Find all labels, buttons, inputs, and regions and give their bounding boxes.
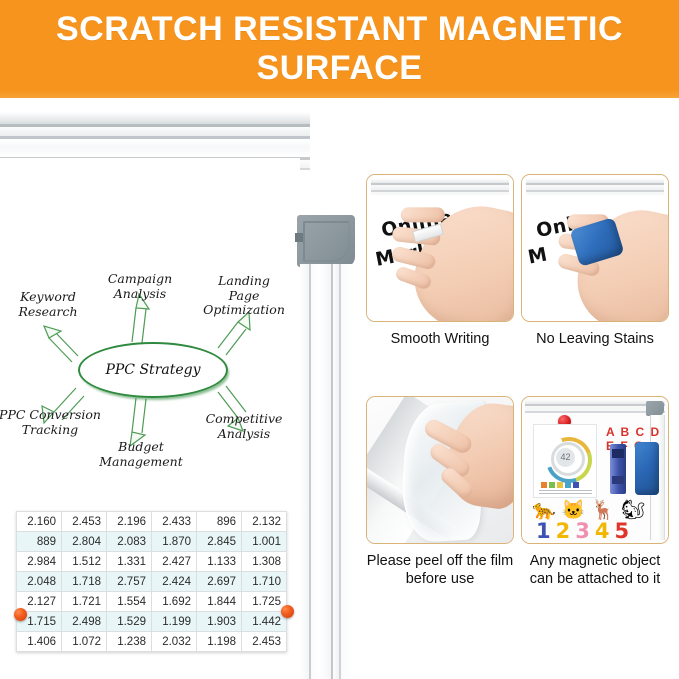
table-row: 2.1271.7211.5541.6921.8441.725: [17, 592, 287, 612]
banner-title: SCRATCH RESISTANT MAGNETIC SURFACE: [20, 10, 660, 88]
number-magnet-4: 4: [595, 521, 610, 542]
mindmap-center-oval: PPC Strategy: [78, 342, 228, 398]
table-cell: 1.692: [152, 592, 197, 612]
table-cell: 1.238: [107, 632, 152, 652]
table-cell: 1.529: [107, 612, 152, 632]
table-cell: 1.844: [197, 592, 242, 612]
feature-image-no-leaving-stains: Onlir M s: [521, 174, 669, 322]
table-cell: 1.133: [197, 552, 242, 572]
table-cell: 2.048: [17, 572, 62, 592]
feature-image-peel-off-film: [366, 396, 514, 544]
feature-card-magnetic-objects: 42 A B C D E F G 🐆🐱🦌🐿 12345 Any magnetic…: [521, 396, 669, 588]
table-cell: 2.424: [152, 572, 197, 592]
table-row: 8892.8042.0831.8702.8451.001: [17, 532, 287, 552]
table-cell: 2.697: [197, 572, 242, 592]
table-cell: 2.453: [242, 632, 287, 652]
table-row: 2.0481.7182.7572.4242.6971.710: [17, 572, 287, 592]
table-cell: 2.160: [17, 512, 62, 532]
feature-card-no-leaving-stains: Onlir M s No Leaving Stains: [521, 174, 669, 349]
mindmap-node-ppc-conversion-tracking: PPC Conversion Tracking: [0, 408, 106, 437]
poster-swatches: [541, 482, 579, 488]
table-cell: 2.433: [152, 512, 197, 532]
table-cell: 1.442: [242, 612, 287, 632]
table-cell: 1.512: [62, 552, 107, 572]
whiteboard-right-rail: [300, 264, 355, 679]
table-cell: 1.903: [197, 612, 242, 632]
mindmap-node-campaign-analysis: Campaign Analysis: [92, 272, 188, 301]
table-cell: 1.198: [197, 632, 242, 652]
table-cell: 2.984: [17, 552, 62, 572]
number-magnet-3: 3: [575, 521, 590, 542]
animal-magnet-icon: 🦌: [591, 501, 615, 520]
eraser-icon: [635, 442, 659, 495]
poster-text-lines: [539, 490, 592, 495]
number-magnet-2: 2: [556, 521, 571, 542]
corner-notch: [295, 233, 303, 242]
orange-magnet-right-icon: [281, 605, 294, 618]
feature-image-magnetic-objects: 42 A B C D E F G 🐆🐱🦌🐿 12345: [521, 396, 669, 544]
table-cell: 2.427: [152, 552, 197, 572]
marker-icon: [610, 444, 626, 494]
animal-magnet-icon: 🐆: [532, 501, 556, 520]
poster-magnet: 42: [533, 424, 597, 498]
table-cell: 1.072: [62, 632, 107, 652]
feature-caption-smooth-writing: Smooth Writing: [366, 331, 514, 349]
number-magnet-1: 1: [536, 521, 551, 542]
mindmap-node-landing-page-optimization: Landing Page Optimization: [190, 274, 298, 318]
mindmap-node-budget-management: Budget Management: [86, 440, 196, 469]
numeric-table: 2.1602.4532.1962.4338962.1328892.8042.08…: [16, 511, 287, 652]
feature-panel-grid: Online Marketi Smooth Writing: [360, 98, 679, 679]
table-cell: 896: [197, 512, 242, 532]
number-magnets: 12345: [536, 521, 656, 542]
poster-value: 42: [556, 448, 575, 467]
table-cell: 2.845: [197, 532, 242, 552]
table-cell: 1.554: [107, 592, 152, 612]
whiteboard-corner-piece: [297, 215, 355, 267]
table-cell: 1.308: [242, 552, 287, 572]
table-row: 1.4061.0721.2382.0321.1982.453: [17, 632, 287, 652]
corner-piece-icon: [646, 401, 664, 416]
numeric-table-body: 2.1602.4532.1962.4338962.1328892.8042.08…: [17, 512, 287, 652]
table-row: 2.1602.4532.1962.4338962.132: [17, 512, 287, 532]
table-cell: 2.757: [107, 572, 152, 592]
table-cell: 2.804: [62, 532, 107, 552]
table-cell: 2.498: [62, 612, 107, 632]
table-cell: 1.870: [152, 532, 197, 552]
table-cell: 1.406: [17, 632, 62, 652]
header-banner: SCRATCH RESISTANT MAGNETIC SURFACE: [0, 0, 679, 98]
table-cell: 889: [17, 532, 62, 552]
mindmap-node-keyword-research: Keyword Research: [2, 290, 94, 319]
table-cell: 2.453: [62, 512, 107, 532]
whiteboard-photo: Keyword Research Campaign Analysis Landi…: [0, 98, 358, 679]
animal-magnets: 🐆🐱🦌🐿: [532, 501, 660, 520]
number-magnet-5: 5: [615, 521, 630, 542]
orange-magnet-left-icon: [14, 608, 27, 621]
feature-card-smooth-writing: Online Marketi Smooth Writing: [366, 174, 514, 349]
table-cell: 2.196: [107, 512, 152, 532]
whiteboard-writing-surface: Keyword Research Campaign Analysis Landi…: [0, 158, 300, 679]
table-cell: 2.132: [242, 512, 287, 532]
feature-image-smooth-writing: Online Marketi: [366, 174, 514, 322]
table-cell: 1.710: [242, 572, 287, 592]
feature-card-peel-off-film: Please peel off the film before use: [366, 396, 514, 588]
mindmap-node-competitive-analysis: Competitive Analysis: [196, 412, 292, 441]
table-cell: 1.721: [62, 592, 107, 612]
table-row: 1.7152.4981.5291.1991.9031.442: [17, 612, 287, 632]
table-row: 2.9841.5121.3312.4271.1331.308: [17, 552, 287, 572]
table-cell: 1.199: [152, 612, 197, 632]
table-cell: 1.725: [242, 592, 287, 612]
table-cell: 2.083: [107, 532, 152, 552]
table-cell: 1.331: [107, 552, 152, 572]
table-cell: 2.032: [152, 632, 197, 652]
banner-shade: [0, 90, 679, 98]
mini-whiteboard: Online Marketi: [367, 175, 513, 321]
mini-whiteboard: Onlir M s: [522, 175, 668, 321]
feature-caption-peel-off-film: Please peel off the film before use: [366, 553, 514, 588]
mindmap-diagram: Keyword Research Campaign Analysis Landi…: [0, 250, 300, 490]
table-cell: 1.001: [242, 532, 287, 552]
mindmap-center-label: PPC Strategy: [105, 362, 200, 378]
feature-caption-no-leaving-stains: No Leaving Stains: [521, 331, 669, 349]
animal-magnet-icon: 🐿: [621, 501, 645, 520]
hand-icon: [405, 195, 514, 322]
feature-caption-magnetic-objects: Any magnetic object can be attached to i…: [521, 553, 669, 588]
handwriting-line-2: M: [526, 243, 549, 268]
animal-magnet-icon: 🐱: [562, 501, 586, 520]
product-feature-image: SCRATCH RESISTANT MAGNETIC SURFACE: [0, 0, 679, 679]
table-cell: 1.718: [62, 572, 107, 592]
